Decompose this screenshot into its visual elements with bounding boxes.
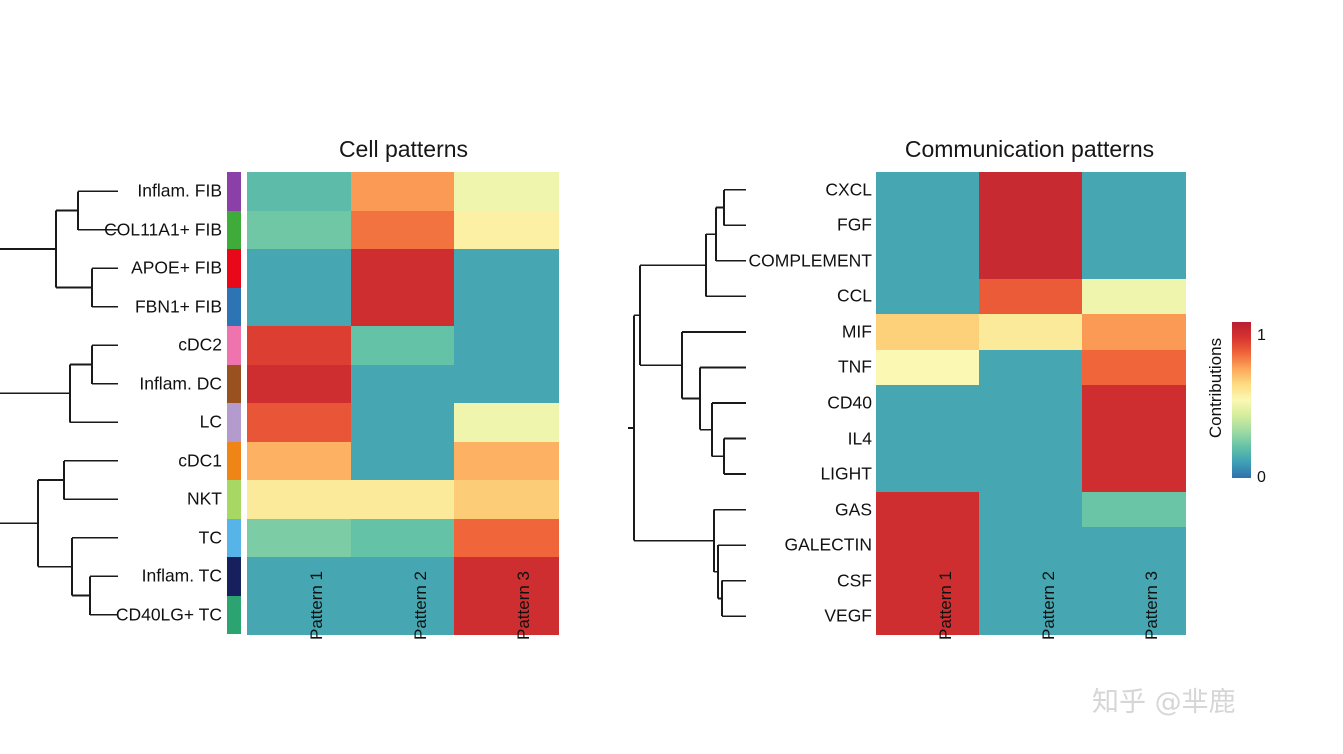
- heatmap-cell: [979, 243, 1083, 279]
- heatmap-cell: [454, 249, 558, 288]
- heatmap-cell: [876, 492, 980, 528]
- heatmap-cell: [351, 326, 455, 365]
- row-label-ccl: CCL: [837, 288, 872, 306]
- row-label-galectin: GALECTIN: [784, 536, 872, 554]
- right-panel-title: Communication patterns: [874, 136, 1185, 163]
- left-panel-title: Cell patterns: [246, 136, 561, 163]
- heatmap-cell: [1082, 563, 1186, 599]
- heatmap-cell: [454, 365, 558, 404]
- heatmap-cell: [979, 172, 1083, 208]
- row-label-cxcl: CXCL: [825, 181, 872, 199]
- heatmap-cell: [247, 519, 351, 558]
- heatmap-cell: [979, 279, 1083, 315]
- row-label-tc: TC: [199, 529, 222, 547]
- heatmap-cell: [454, 596, 558, 635]
- heatmap-cell: [454, 326, 558, 365]
- heatmap-cell: [351, 557, 455, 596]
- heatmap-cell: [979, 527, 1083, 563]
- heatmap-cell: [351, 596, 455, 635]
- heatmap-cell: [247, 172, 351, 211]
- heatmap-cell: [979, 456, 1083, 492]
- right-heatmap: [876, 172, 1185, 634]
- column-label-pattern-1: Pattern 1: [307, 571, 327, 640]
- heatmap-cell: [876, 456, 980, 492]
- heatmap-cell: [876, 421, 980, 457]
- heatmap-cell: [1082, 492, 1186, 528]
- heatmap-cell: [876, 208, 980, 244]
- colorbar-title: Contributions: [1206, 330, 1226, 446]
- row-label-vegf: VEGF: [824, 607, 872, 625]
- row-label-inflam-fib: Inflam. FIB: [137, 183, 222, 201]
- row-label-cd40lg-tc: CD40LG+ TC: [116, 606, 222, 624]
- row-label-csf: CSF: [837, 572, 872, 590]
- heatmap-cell: [454, 557, 558, 596]
- heatmap-cell: [247, 211, 351, 250]
- row-label-inflam-dc: Inflam. DC: [139, 375, 222, 393]
- heatmap-cell: [454, 403, 558, 442]
- row-annotation-swatch: [227, 288, 241, 327]
- heatmap-cell: [247, 480, 351, 519]
- column-label-pattern-2: Pattern 2: [411, 571, 431, 640]
- row-label-nkt: NKT: [187, 491, 222, 509]
- heatmap-cell: [247, 249, 351, 288]
- row-annotation-swatch: [227, 326, 241, 365]
- heatmap-cell: [454, 211, 558, 250]
- heatmap-cell: [979, 492, 1083, 528]
- row-label-light: LIGHT: [820, 465, 872, 483]
- heatmap-cell: [876, 385, 980, 421]
- column-label-pattern-1: Pattern 1: [936, 571, 956, 640]
- watermark: 知乎 @芈鹿: [1092, 680, 1236, 719]
- heatmap-cell: [454, 480, 558, 519]
- row-label-fbn1-fib: FBN1+ FIB: [135, 298, 222, 316]
- left-column-labels: Pattern 1Pattern 2Pattern 3: [247, 640, 558, 750]
- left-heatmap: [247, 172, 558, 634]
- row-annotation-swatch: [227, 596, 241, 635]
- heatmap-cell: [876, 527, 980, 563]
- heatmap-cell: [1082, 314, 1186, 350]
- heatmap-cell: [351, 172, 455, 211]
- row-label-mif: MIF: [842, 323, 872, 341]
- row-label-lc: LC: [200, 414, 222, 432]
- row-annotation-swatch: [227, 519, 241, 558]
- row-label-fgf: FGF: [837, 217, 872, 235]
- heatmap-cell: [876, 172, 980, 208]
- heatmap-cell: [876, 243, 980, 279]
- heatmap-cell: [979, 598, 1083, 634]
- heatmap-cell: [1082, 385, 1186, 421]
- heatmap-cell: [876, 598, 980, 634]
- heatmap-cell: [351, 288, 455, 327]
- heatmap-cell: [1082, 279, 1186, 315]
- row-label-cdc1: cDC1: [178, 452, 222, 470]
- row-annotation-swatch: [227, 172, 241, 211]
- row-annotation-swatch: [227, 557, 241, 596]
- row-annotation-swatch: [227, 211, 241, 250]
- row-label-cdc2: cDC2: [178, 337, 222, 355]
- heatmap-cell: [1082, 243, 1186, 279]
- row-label-col11a1-fib: COL11A1+ FIB: [104, 221, 222, 239]
- heatmap-cell: [1082, 527, 1186, 563]
- row-label-complement: COMPLEMENT: [749, 252, 872, 270]
- heatmap-cell: [247, 557, 351, 596]
- heatmap-cell: [247, 288, 351, 327]
- row-label-inflam-tc: Inflam. TC: [142, 568, 222, 586]
- colorbar-max-tick: 1: [1257, 327, 1266, 345]
- row-annotation-swatch: [227, 442, 241, 481]
- colorbar-gradient: [1232, 322, 1251, 478]
- heatmap-cell: [351, 365, 455, 404]
- right-row-labels: CXCLFGFCOMPLEMENTCCLMIFTNFCD40IL4LIGHTGA…: [640, 172, 872, 634]
- heatmap-cell: [351, 442, 455, 481]
- heatmap-cell: [979, 208, 1083, 244]
- row-label-tnf: TNF: [838, 359, 872, 377]
- row-annotation-swatch: [227, 365, 241, 404]
- column-label-pattern-3: Pattern 3: [1142, 571, 1162, 640]
- colorbar-legend: Contributions 1 0: [1196, 300, 1286, 500]
- row-label-cd40: CD40: [827, 394, 872, 412]
- row-annotation-swatch: [227, 403, 241, 442]
- row-label-apoe-fib: APOE+ FIB: [131, 260, 222, 278]
- heatmap-cell: [876, 563, 980, 599]
- heatmap-cell: [247, 442, 351, 481]
- heatmap-cell: [247, 403, 351, 442]
- heatmap-cell: [979, 421, 1083, 457]
- heatmap-cell: [979, 385, 1083, 421]
- heatmap-cell: [454, 288, 558, 327]
- heatmap-cell: [351, 403, 455, 442]
- heatmap-cell: [1082, 172, 1186, 208]
- heatmap-cell: [876, 279, 980, 315]
- row-label-il4: IL4: [848, 430, 872, 448]
- heatmap-cell: [979, 563, 1083, 599]
- heatmap-cell: [247, 365, 351, 404]
- heatmap-cell: [1082, 421, 1186, 457]
- heatmap-cell: [979, 314, 1083, 350]
- heatmap-cell: [454, 519, 558, 558]
- heatmap-cell: [1082, 350, 1186, 386]
- heatmap-cell: [247, 326, 351, 365]
- heatmap-cell: [351, 519, 455, 558]
- column-label-pattern-2: Pattern 2: [1039, 571, 1059, 640]
- heatmap-cell: [351, 249, 455, 288]
- heatmap-cell: [247, 596, 351, 635]
- column-label-pattern-3: Pattern 3: [514, 571, 534, 640]
- heatmap-cell: [454, 172, 558, 211]
- heatmap-cell: [351, 211, 455, 250]
- heatmap-cell: [1082, 208, 1186, 244]
- figure-canvas: Cell patterns Inflam. FIBCOL11A1+ FIBAPO…: [0, 0, 1343, 754]
- heatmap-cell: [876, 350, 980, 386]
- heatmap-cell: [876, 314, 980, 350]
- row-label-gas: GAS: [835, 501, 872, 519]
- left-row-labels: Inflam. FIBCOL11A1+ FIBAPOE+ FIBFBN1+ FI…: [0, 172, 222, 634]
- left-row-annotation-strip: [227, 172, 241, 634]
- heatmap-cell: [454, 442, 558, 481]
- heatmap-cell: [1082, 598, 1186, 634]
- heatmap-cell: [979, 350, 1083, 386]
- heatmap-cell: [351, 480, 455, 519]
- row-annotation-swatch: [227, 480, 241, 519]
- colorbar-min-tick: 0: [1257, 469, 1266, 487]
- row-annotation-swatch: [227, 249, 241, 288]
- heatmap-cell: [1082, 456, 1186, 492]
